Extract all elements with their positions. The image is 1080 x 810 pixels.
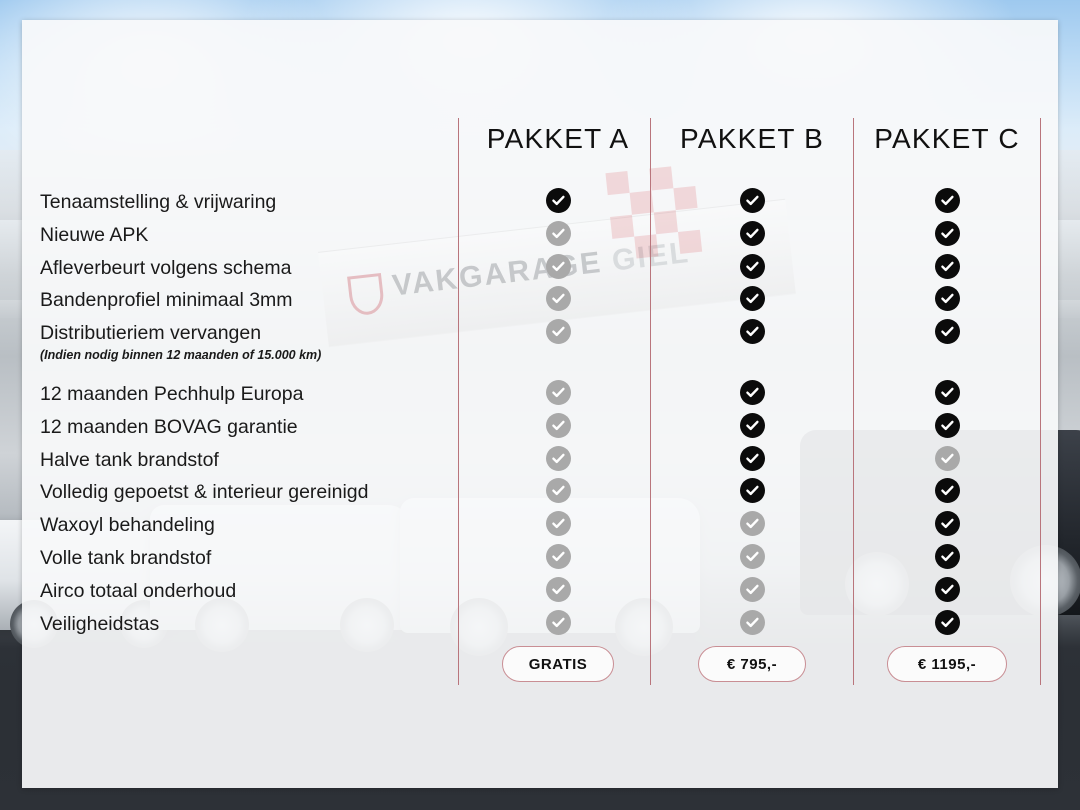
check-icon-b-included — [740, 319, 765, 344]
check-icon-a-excluded — [546, 577, 571, 602]
price-button-c[interactable]: € 1195,- — [887, 646, 1007, 682]
check-icon-c-included — [935, 319, 960, 344]
check-icon-b-included — [740, 446, 765, 471]
check-icon-c-included — [935, 254, 960, 279]
check-icon-c-included — [935, 286, 960, 311]
check-icon-b-included — [740, 478, 765, 503]
column-divider-2 — [650, 118, 651, 685]
feature-label: Veiligheidstas — [40, 615, 159, 635]
package-header-a: PAKKET A — [448, 123, 668, 155]
column-divider-3 — [853, 118, 854, 685]
feature-label: Airco totaal onderhoud — [40, 582, 236, 602]
price-label-b: € 795,- — [727, 656, 777, 673]
check-icon-a-excluded — [546, 446, 571, 471]
check-icon-b-excluded — [740, 511, 765, 536]
check-icon-c-included — [935, 221, 960, 246]
feature-label: 12 maanden BOVAG garantie — [40, 418, 298, 438]
price-button-a[interactable]: GRATIS — [502, 646, 614, 682]
feature-note: (Indien nodig binnen 12 maanden of 15.00… — [40, 349, 321, 362]
check-icon-a-excluded — [546, 254, 571, 279]
check-icon-a-excluded — [546, 478, 571, 503]
check-icon-c-included — [935, 413, 960, 438]
feature-label: Volledig gepoetst & interieur gereinigd — [40, 483, 368, 503]
feature-label: Distributieriem vervangen — [40, 324, 261, 344]
check-icon-a-excluded — [546, 380, 571, 405]
column-divider-4 — [1040, 118, 1041, 685]
check-icon-a-included — [546, 188, 571, 213]
check-icon-b-included — [740, 286, 765, 311]
check-icon-c-excluded — [935, 446, 960, 471]
check-icon-a-excluded — [546, 610, 571, 635]
feature-label: Tenaamstelling & vrijwaring — [40, 193, 276, 213]
check-icon-a-excluded — [546, 319, 571, 344]
package-header-b: PAKKET B — [642, 123, 862, 155]
check-icon-c-included — [935, 544, 960, 569]
check-icon-a-excluded — [546, 286, 571, 311]
check-icon-a-excluded — [546, 221, 571, 246]
check-icon-b-included — [740, 188, 765, 213]
check-icon-b-excluded — [740, 610, 765, 635]
check-icon-a-excluded — [546, 511, 571, 536]
comparison-table: PAKKET APAKKET BPAKKET CTenaamstelling &… — [22, 20, 1058, 788]
column-divider-1 — [458, 118, 459, 685]
feature-label: Bandenprofiel minimaal 3mm — [40, 291, 293, 311]
feature-label: Volle tank brandstof — [40, 549, 211, 569]
check-icon-b-included — [740, 221, 765, 246]
check-icon-c-included — [935, 380, 960, 405]
check-icon-b-included — [740, 254, 765, 279]
check-icon-b-excluded — [740, 577, 765, 602]
pricing-panel: VAKGARAGE GIEL PAKKET APAKKET BPAKKET CT… — [22, 20, 1058, 788]
feature-label: Afleverbeurt volgens schema — [40, 259, 291, 279]
check-icon-c-included — [935, 511, 960, 536]
price-label-c: € 1195,- — [918, 656, 976, 673]
check-icon-c-included — [935, 610, 960, 635]
check-icon-b-included — [740, 380, 765, 405]
check-icon-c-included — [935, 478, 960, 503]
check-icon-a-excluded — [546, 544, 571, 569]
check-icon-b-included — [740, 413, 765, 438]
check-icon-c-included — [935, 188, 960, 213]
price-label-a: GRATIS — [529, 656, 588, 673]
check-icon-b-excluded — [740, 544, 765, 569]
feature-label: Waxoyl behandeling — [40, 516, 215, 536]
check-icon-a-excluded — [546, 413, 571, 438]
check-icon-c-included — [935, 577, 960, 602]
price-button-b[interactable]: € 795,- — [698, 646, 806, 682]
feature-label: 12 maanden Pechhulp Europa — [40, 385, 303, 405]
package-header-c: PAKKET C — [837, 123, 1057, 155]
feature-label: Nieuwe APK — [40, 226, 148, 246]
feature-label: Halve tank brandstof — [40, 451, 219, 471]
